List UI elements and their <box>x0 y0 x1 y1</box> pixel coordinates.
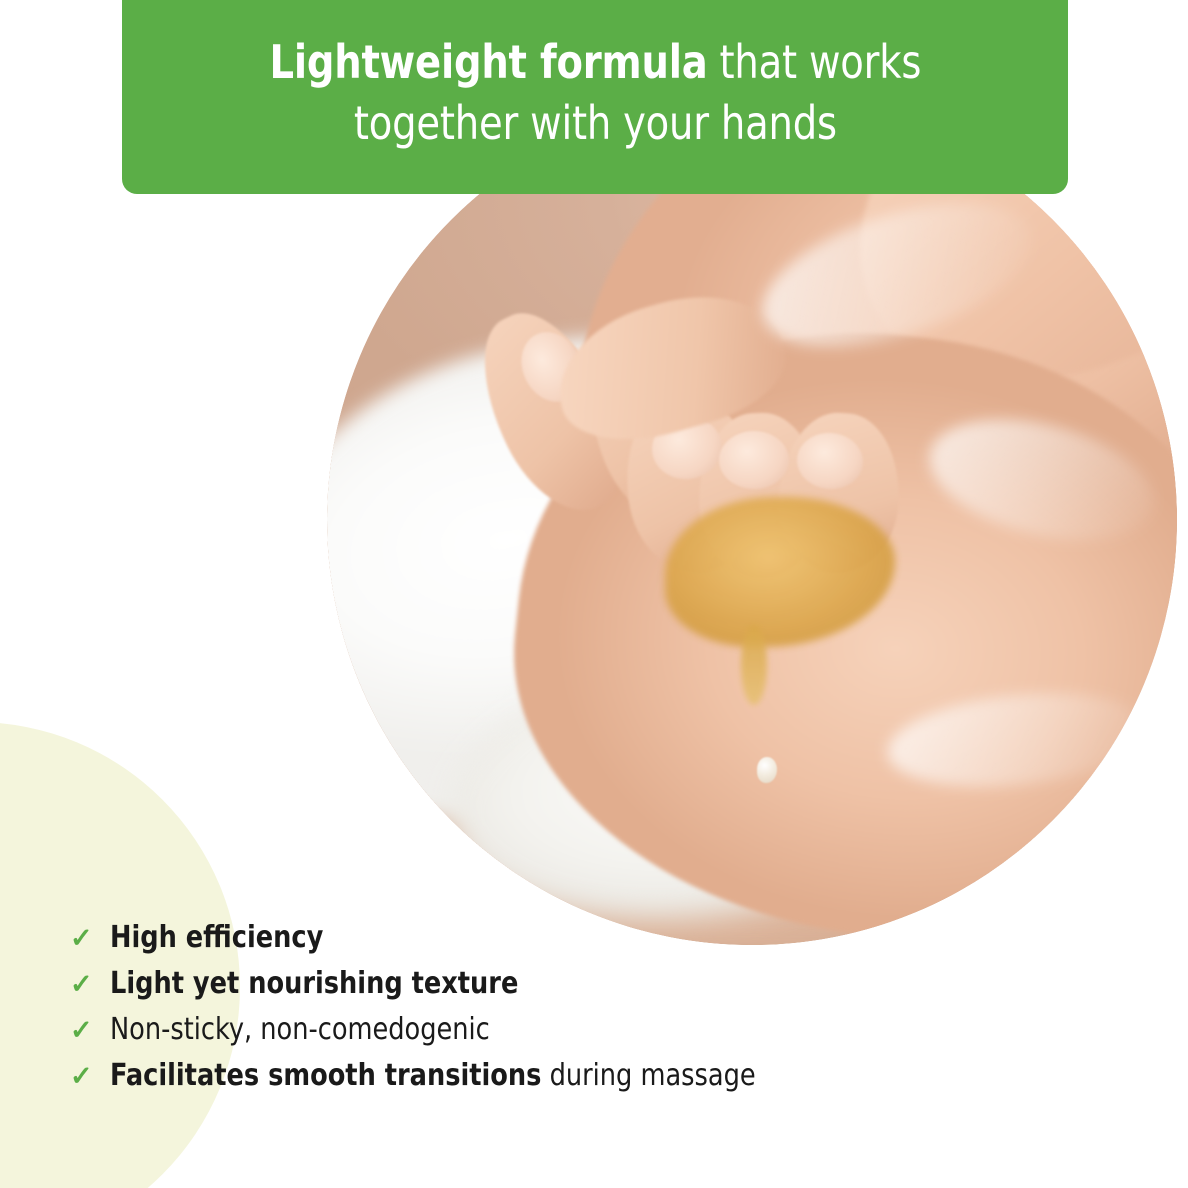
list-item: ✓ Light yet nourishing texture <box>70 966 930 1002</box>
hero-photo-circle <box>327 95 1177 945</box>
headline-line-two: together with your hands <box>269 93 921 154</box>
check-icon: ✓ <box>70 971 110 998</box>
benefit-label: High efficiency <box>110 920 323 956</box>
check-icon: ✓ <box>70 1063 110 1090</box>
check-icon: ✓ <box>70 925 110 952</box>
list-item: ✓ High efficiency <box>70 920 930 956</box>
benefits-list: ✓ High efficiency ✓ Light yet nourishing… <box>70 920 930 1104</box>
headline-emphasis: Lightweight formula <box>269 35 707 89</box>
benefit-label: Facilitates smooth transitions during ma… <box>110 1058 756 1094</box>
benefit-regular: during massage <box>541 1058 755 1093</box>
benefit-bold: Facilitates smooth transitions <box>110 1058 541 1093</box>
check-icon: ✓ <box>70 1017 110 1044</box>
benefit-label: Non-sticky, non-comedogenic <box>110 1012 490 1048</box>
benefit-bold: High efficiency <box>110 920 323 955</box>
photo-oil-drip <box>741 625 767 705</box>
benefit-bold: Light yet nourishing texture <box>110 966 518 1001</box>
photo-fingernail <box>719 431 789 489</box>
benefit-label: Light yet nourishing texture <box>110 966 518 1002</box>
headline-rest: that works <box>707 35 921 89</box>
hero-photo-inner <box>327 95 1177 945</box>
list-item: ✓ Non-sticky, non-comedogenic <box>70 1012 930 1048</box>
headline-text: Lightweight formula that works together … <box>269 32 921 153</box>
promo-canvas: Lightweight formula that works together … <box>0 0 1188 1188</box>
benefit-regular: Non-sticky, non-comedogenic <box>110 1012 490 1047</box>
list-item: ✓ Facilitates smooth transitions during … <box>70 1058 930 1094</box>
headline-banner: Lightweight formula that works together … <box>122 0 1068 194</box>
